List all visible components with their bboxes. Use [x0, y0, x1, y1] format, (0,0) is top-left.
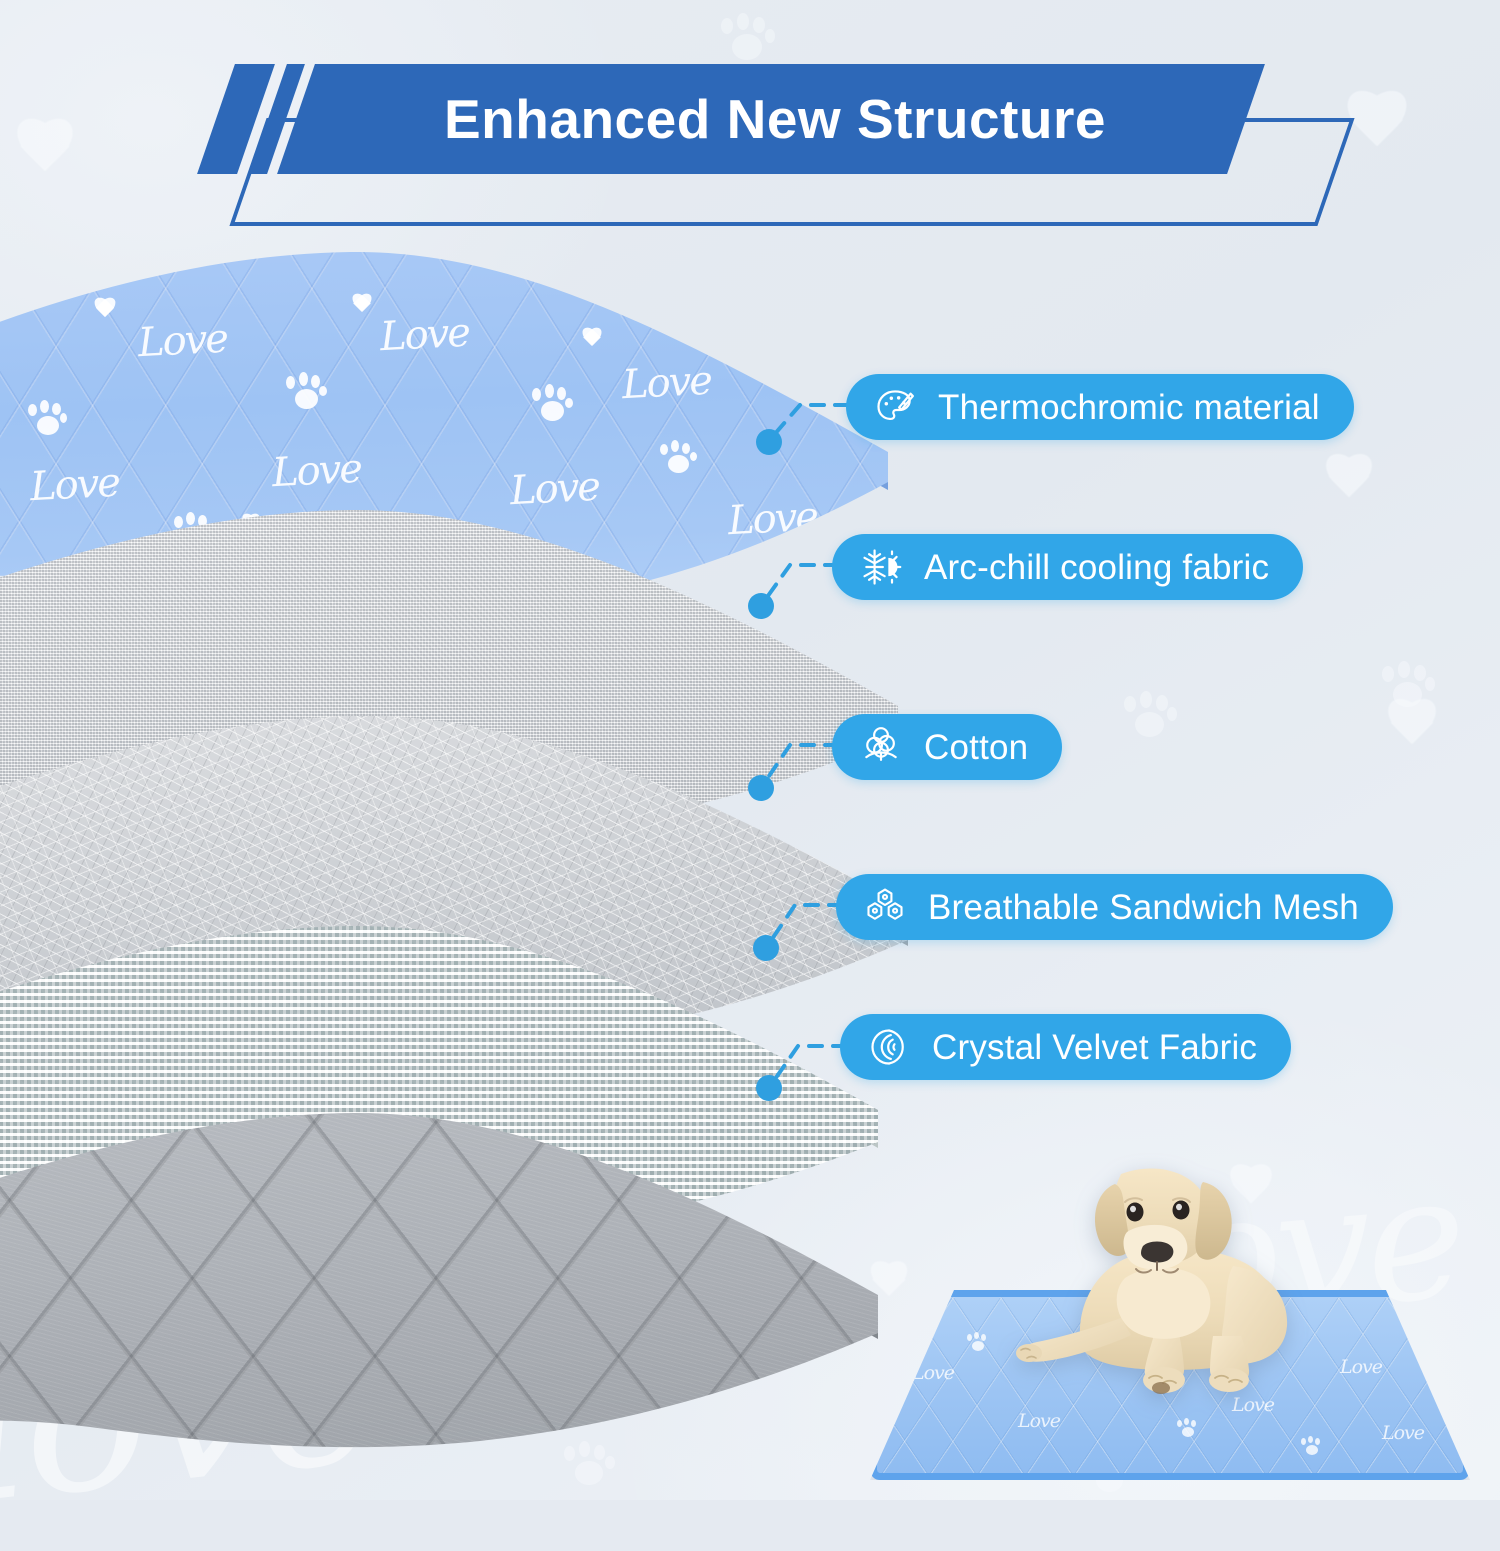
layer-label-text: Arc-chill cooling fabric — [924, 550, 1269, 585]
layer-label-arc-chill[interactable]: Arc-chill cooling fabric — [832, 534, 1303, 600]
snowflake-sun-icon — [858, 544, 904, 590]
layer-label-thermochromic[interactable]: Thermochromic material — [846, 374, 1354, 440]
layer-label-cotton[interactable]: Cotton — [832, 714, 1062, 780]
layer-label-text: Cotton — [924, 730, 1028, 765]
layer-label-crystal-velvet[interactable]: Crystal Velvet Fabric — [840, 1014, 1291, 1080]
fabric-layer-crystal-velvet — [0, 1075, 880, 1495]
layer-label-sandwich-mesh[interactable]: Breathable Sandwich Mesh — [836, 874, 1393, 940]
layer-label-text: Breathable Sandwich Mesh — [928, 890, 1359, 925]
product-photo: Love Love Love Love Love Love — [860, 1140, 1480, 1480]
fabric-layer-stack: Love Love Love Love Love Love Love Love — [0, 0, 900, 1500]
honeycomb-mesh-icon — [862, 884, 908, 930]
cotton-boll-icon — [858, 724, 904, 770]
velvet-swirl-icon — [866, 1024, 912, 1070]
palette-icon — [872, 384, 918, 430]
labrador-puppy — [975, 1150, 1375, 1400]
layer-label-text: Thermochromic material — [938, 390, 1320, 425]
layer-label-text: Crystal Velvet Fabric — [932, 1030, 1257, 1065]
